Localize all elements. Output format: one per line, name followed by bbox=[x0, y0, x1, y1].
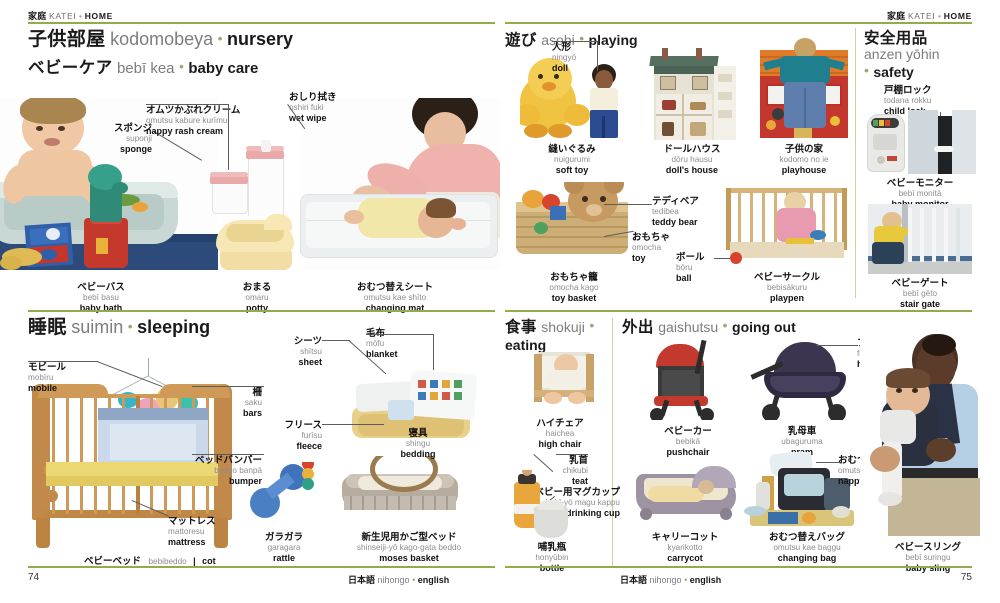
callout-mattress: マットレス mattoresu mattress bbox=[168, 516, 216, 547]
callout-bars-jp: 柵 bbox=[222, 387, 262, 398]
heading-nursery: 子供部屋 kodomobeya • nursery bbox=[28, 29, 293, 51]
leader-teat-top bbox=[556, 454, 588, 455]
callout-mobile: モビール mobīru mobile bbox=[28, 362, 66, 393]
caption-baby-bath: ベビーバス bebī basu baby bath bbox=[56, 282, 146, 313]
callout-sheet-jp: シーツ bbox=[270, 336, 322, 347]
heading-sleeping: 睡眠 suimin • sleeping bbox=[28, 317, 210, 339]
callout-fleece-jp: フリース bbox=[272, 420, 322, 431]
heading-sleeping-rom: suimin bbox=[71, 317, 123, 337]
caption-rattle-jp: ガラガラ bbox=[238, 532, 330, 543]
caption-cot-sep: | bbox=[193, 556, 196, 566]
ball-icon bbox=[730, 252, 742, 264]
caption-changing-mat-jp: おむつ替えシート bbox=[330, 282, 460, 293]
caption-playhouse-en: playhouse bbox=[752, 165, 856, 176]
rule-top-right bbox=[505, 22, 972, 24]
running-head-right-rom: KATEI bbox=[908, 11, 935, 21]
rule-top-left bbox=[28, 22, 495, 24]
caption-pram-rom: ubaguruma bbox=[748, 437, 856, 447]
caption-soft-toy-jp: 縫いぐるみ bbox=[522, 144, 622, 155]
caption-bottle: 哺乳瓶 honyūbin bottle bbox=[506, 542, 598, 573]
caption-stair-gate: ベビーゲート bebī gēto stair gate bbox=[862, 278, 978, 309]
heading-nursery-jp: 子供部屋 bbox=[28, 29, 106, 50]
caption-pushchair: ベビーカー bebikā pushchair bbox=[636, 426, 740, 457]
caption-changing-bag-rom: omutsu kae baggu bbox=[744, 543, 870, 553]
caption-moses-basket: 新生児用かご型ベッド shinseiji-yō kago-gata beddo … bbox=[322, 532, 496, 563]
callout-sheet: シーツ shītsu sheet bbox=[270, 336, 322, 367]
callout-blanket: 毛布 mōfu blanket bbox=[366, 328, 398, 359]
running-head-en: HOME bbox=[85, 11, 113, 21]
caption-playpen-rom: bebisākuru bbox=[724, 283, 850, 293]
callout-wet-wipe-rom: oshiri fuki bbox=[289, 103, 337, 113]
photo-wet-wipe bbox=[246, 140, 286, 216]
photo-playpen bbox=[724, 186, 850, 268]
caption-rattle-en: rattle bbox=[238, 553, 330, 564]
page-right: 家庭 KATEI • HOME 遊び asobi • playing 安全用品 … bbox=[500, 0, 1000, 603]
caption-carrycot: キャリーコット kyarikotto carrycot bbox=[626, 532, 744, 563]
photo-nappy-rash-cream bbox=[210, 170, 250, 214]
caption-bedding-rom: shingu bbox=[370, 439, 466, 449]
subheading-baby-care-jp: ベビーケア bbox=[28, 59, 113, 77]
rule-bottom-left bbox=[28, 566, 495, 568]
caption-changing-bag-en: changing bag bbox=[744, 553, 870, 564]
leader-blanket-top bbox=[366, 334, 434, 335]
rule-sleeping bbox=[28, 310, 495, 312]
caption-playhouse-rom: kodomo no ie bbox=[752, 155, 856, 165]
running-head-dot: • bbox=[79, 11, 82, 21]
caption-stair-gate-en: stair gate bbox=[862, 299, 978, 310]
running-head-right-en: HOME bbox=[944, 11, 972, 21]
leader-hood bbox=[816, 345, 858, 346]
callout-sponge-en: sponge bbox=[84, 144, 152, 155]
folio-right: 75 bbox=[961, 572, 972, 583]
callout-toy-jp: おもちゃ bbox=[632, 232, 670, 243]
photo-playhouse bbox=[758, 36, 850, 140]
footer-left-jp: 日本語 bbox=[348, 575, 375, 585]
callout-blanket-en: blanket bbox=[366, 349, 398, 360]
footer-right-en: english bbox=[690, 575, 722, 585]
caption-cot-rom: bebibeddo bbox=[148, 557, 186, 566]
baby-care-illustration bbox=[0, 98, 500, 270]
heading-eating-rom: shokuji bbox=[541, 319, 585, 335]
callout-mobile-en: mobile bbox=[28, 383, 66, 394]
caption-changing-bag: おむつ替えバッグ omutsu kae baggu changing bag bbox=[744, 532, 870, 563]
caption-bedding: 寝具 shingu bedding bbox=[370, 428, 466, 459]
caption-potty: おまる omaru potty bbox=[212, 282, 302, 313]
photo-cupboard-door bbox=[908, 110, 976, 176]
caption-baby-sling-rom: bebī suringu bbox=[872, 553, 984, 563]
photo-pushchair bbox=[640, 340, 736, 420]
leader-teddy-bear bbox=[604, 204, 652, 205]
caption-baby-sling: ベビースリング bebī suringu baby sling bbox=[872, 542, 984, 573]
heading-nursery-dot: • bbox=[218, 30, 223, 46]
heading-eating-jp: 食事 bbox=[505, 319, 537, 336]
leader-mobile-top bbox=[28, 361, 98, 362]
photo-toy-basket bbox=[516, 182, 634, 262]
caption-playpen-jp: ベビーサークル bbox=[724, 272, 850, 283]
heading-safety-en: safety bbox=[873, 64, 913, 80]
folio-left: 74 bbox=[28, 572, 39, 583]
callout-doll-rom: ningyō bbox=[552, 53, 576, 63]
callout-bumper-rom: beddo banpā bbox=[186, 466, 262, 476]
caption-soft-toy-rom: nuigurumi bbox=[522, 155, 622, 165]
subheading-baby-care-en: baby care bbox=[188, 60, 258, 77]
footer-right-dot: • bbox=[684, 575, 687, 585]
running-head-jp: 家庭 bbox=[28, 11, 46, 21]
photo-baby-sling bbox=[860, 330, 986, 538]
photo-pram bbox=[750, 340, 860, 420]
callout-bumper: ベッドバンパー beddo banpā bumper bbox=[186, 455, 262, 486]
heading-going-out: 外出 gaishutsu • going out bbox=[622, 317, 796, 338]
callout-mattress-en: mattress bbox=[168, 537, 216, 548]
leader-doll-down bbox=[597, 41, 598, 71]
callout-bars: 柵 saku bars bbox=[222, 387, 262, 418]
heading-playing-dot: • bbox=[579, 30, 584, 46]
caption-bedding-en: bedding bbox=[370, 449, 466, 460]
running-head-rom: KATEI bbox=[49, 11, 76, 21]
photo-dolls-house bbox=[646, 48, 738, 140]
callout-ball-rom: bōru bbox=[676, 263, 705, 273]
heading-eating-en: eating bbox=[505, 337, 546, 353]
caption-pushchair-en: pushchair bbox=[636, 447, 740, 458]
leader-cream-top bbox=[146, 104, 229, 105]
caption-stair-gate-jp: ベビーゲート bbox=[862, 278, 978, 289]
callout-sheet-rom: shītsu bbox=[270, 347, 322, 357]
caption-high-chair-jp: ハイチェア bbox=[512, 418, 608, 429]
caption-baby-monitor-rom: bebī monitā bbox=[862, 189, 978, 199]
callout-ball-en: ball bbox=[676, 273, 705, 284]
caption-baby-bath-rom: bebī basu bbox=[56, 293, 146, 303]
footer-right-rom: nihongo bbox=[650, 575, 682, 585]
heading-safety-dot: • bbox=[864, 62, 869, 78]
callout-bumper-jp: ベッドバンパー bbox=[186, 455, 262, 466]
caption-playhouse-jp: 子供の家 bbox=[752, 144, 856, 155]
callout-fleece-rom: furīsu bbox=[272, 431, 322, 441]
caption-dolls-house-en: doll's house bbox=[640, 165, 744, 176]
callout-toy-rom: omocha bbox=[632, 243, 670, 253]
photo-potty bbox=[216, 214, 296, 270]
callout-doll-en: doll bbox=[552, 63, 576, 74]
footer-left-en: english bbox=[418, 575, 450, 585]
caption-bottle-rom: honyūbin bbox=[506, 553, 598, 563]
heading-sleeping-jp: 睡眠 bbox=[28, 317, 67, 338]
callout-toy-en: toy bbox=[632, 253, 670, 264]
callout-doll-jp: 人形 bbox=[552, 42, 576, 53]
photo-carrycot bbox=[632, 462, 742, 526]
caption-playpen: ベビーサークル bebisākuru playpen bbox=[724, 272, 850, 303]
caption-stair-gate-rom: bebī gēto bbox=[862, 289, 978, 299]
callout-toy: おもちゃ omocha toy bbox=[632, 232, 670, 263]
caption-changing-mat-rom: omutsu kae shīto bbox=[330, 293, 460, 303]
callout-wet-wipe-jp: おしり拭き bbox=[289, 92, 337, 103]
caption-moses-basket-rom: shinseiji-yō kago-gata beddo bbox=[322, 543, 496, 553]
callout-child-lock-jp: 戸棚ロック bbox=[884, 85, 932, 96]
caption-carrycot-en: carrycot bbox=[626, 553, 744, 564]
callout-sponge-jp: スポンジ bbox=[84, 123, 152, 134]
leader-cream-down bbox=[228, 104, 229, 170]
caption-rattle-rom: garagara bbox=[238, 543, 330, 553]
footer-left-dot: • bbox=[412, 575, 415, 585]
callout-nappy-rash-cream-jp: オムツかぶれクリーム bbox=[146, 105, 240, 116]
heading-sleeping-en: sleeping bbox=[137, 317, 210, 337]
caption-moses-basket-en: moses basket bbox=[322, 553, 496, 564]
photo-moses-basket bbox=[336, 456, 466, 528]
callout-bars-rom: saku bbox=[222, 398, 262, 408]
callout-blanket-rom: mōfu bbox=[366, 339, 398, 349]
caption-baby-sling-jp: ベビースリング bbox=[872, 542, 984, 553]
callout-teddy-bear-rom: tedibea bbox=[652, 207, 699, 217]
heading-going-out-rom: gaishutsu bbox=[658, 319, 718, 335]
caption-toy-basket-jp: おもちゃ籠 bbox=[516, 272, 632, 283]
caption-rattle: ガラガラ garagara rattle bbox=[238, 532, 330, 563]
photo-stair-gate bbox=[868, 204, 972, 274]
heading-playing-en: playing bbox=[589, 32, 638, 48]
callout-sponge: スポンジ suponji sponge bbox=[84, 123, 152, 154]
caption-bottle-jp: 哺乳瓶 bbox=[506, 542, 598, 553]
photo-changing-mat bbox=[300, 98, 500, 270]
footer-right: 日本語 nihongo • english bbox=[620, 573, 721, 586]
callout-doll: 人形 ningyō doll bbox=[552, 42, 576, 73]
callout-mobile-jp: モビール bbox=[28, 362, 66, 373]
callout-child-lock-rom: todana rokku bbox=[884, 96, 932, 106]
callout-ball-jp: ボール bbox=[676, 252, 705, 263]
rule-bottom-right bbox=[505, 566, 972, 568]
rule-eating bbox=[505, 310, 972, 312]
heading-safety: 安全用品 anzen yōhin • safety bbox=[864, 30, 972, 82]
caption-playpen-en: playpen bbox=[724, 293, 850, 304]
running-head-left: 家庭 KATEI • HOME bbox=[28, 9, 113, 22]
callout-fleece-en: fleece bbox=[272, 441, 322, 452]
photo-high-chair bbox=[528, 352, 600, 414]
subheading-baby-care-dot: • bbox=[179, 58, 184, 74]
leader-sheet-top bbox=[322, 340, 350, 341]
heading-eating: 食事 shokuji • eating bbox=[505, 317, 605, 356]
callout-mattress-jp: マットレス bbox=[168, 516, 216, 527]
caption-soft-toy-en: soft toy bbox=[522, 165, 622, 176]
callout-nappy-rash-cream: オムツかぶれクリーム omutsu kabure kurīmu nappy ra… bbox=[146, 105, 240, 136]
footer-left: 日本語 nihongo • english bbox=[348, 573, 449, 586]
heading-going-out-dot: • bbox=[723, 317, 728, 333]
caption-baby-bath-jp: ベビーバス bbox=[56, 282, 146, 293]
photo-bottle bbox=[508, 470, 578, 542]
caption-pram-jp: 乳母車 bbox=[748, 426, 856, 437]
caption-bedding-jp: 寝具 bbox=[370, 428, 466, 439]
caption-baby-monitor-jp: ベビーモニター bbox=[862, 178, 978, 189]
caption-high-chair-en: high chair bbox=[512, 439, 608, 450]
callout-sheet-en: sheet bbox=[270, 357, 322, 368]
heading-eating-dot: • bbox=[589, 317, 594, 333]
callout-sponge-rom: suponji bbox=[84, 134, 152, 144]
leader-bars bbox=[192, 386, 264, 387]
page-left: 家庭 KATEI • HOME 子供部屋 kodomobeya • nurser… bbox=[0, 0, 500, 603]
caption-pushchair-rom: bebikā bbox=[636, 437, 740, 447]
callout-fleece: フリース furīsu fleece bbox=[272, 420, 322, 451]
caption-moses-basket-jp: 新生児用かご型ベッド bbox=[322, 532, 496, 543]
callout-mobile-rom: mobīru bbox=[28, 373, 66, 383]
running-head-right-dot: • bbox=[938, 11, 941, 21]
heading-nursery-en: nursery bbox=[227, 29, 293, 49]
caption-changing-mat: おむつ替えシート omutsu kae shīto changing mat bbox=[330, 282, 460, 313]
caption-cot-en: cot bbox=[202, 556, 216, 566]
callout-teddy-bear: テディベア tedibea teddy bear bbox=[652, 196, 699, 227]
footer-right-jp: 日本語 bbox=[620, 575, 647, 585]
caption-soft-toy: 縫いぐるみ nuigurumi soft toy bbox=[522, 144, 622, 175]
caption-carrycot-rom: kyarikotto bbox=[626, 543, 744, 553]
callout-teddy-bear-en: teddy bear bbox=[652, 217, 699, 228]
caption-pushchair-jp: ベビーカー bbox=[636, 426, 740, 437]
footer-left-rom: nihongo bbox=[378, 575, 410, 585]
callout-mattress-rom: mattoresu bbox=[168, 527, 216, 537]
caption-dolls-house-rom: dōru hausu bbox=[640, 155, 744, 165]
heading-safety-jp: 安全用品 bbox=[864, 30, 972, 47]
subheading-baby-care-rom: bebī kea bbox=[117, 60, 175, 77]
leader-nappy bbox=[816, 462, 840, 463]
leader-doll-top bbox=[552, 41, 598, 42]
subheading-baby-care: ベビーケア bebī kea • baby care bbox=[28, 58, 258, 79]
callout-bumper-en: bumper bbox=[186, 476, 262, 487]
callout-teddy-bear-jp: テディベア bbox=[652, 196, 699, 207]
caption-high-chair: ハイチェア haichea high chair bbox=[512, 418, 608, 449]
caption-bottle-en: bottle bbox=[506, 563, 598, 574]
caption-toy-basket-rom: omocha kago bbox=[516, 283, 632, 293]
caption-changing-bag-jp: おむつ替えバッグ bbox=[744, 532, 870, 543]
callout-nappy-rash-cream-en: nappy rash cream bbox=[146, 126, 240, 137]
caption-toy-basket: おもちゃ籠 omocha kago toy basket bbox=[516, 272, 632, 303]
photo-baby-monitor bbox=[863, 112, 907, 172]
running-head-right-jp: 家庭 bbox=[887, 11, 905, 21]
caption-high-chair-rom: haichea bbox=[512, 429, 608, 439]
caption-dolls-house: ドールハウス dōru hausu doll's house bbox=[640, 144, 744, 175]
caption-carrycot-jp: キャリーコット bbox=[626, 532, 744, 543]
heading-safety-rom: anzen yōhin bbox=[864, 47, 972, 63]
callout-teat-jp: 乳首 bbox=[520, 455, 588, 466]
heading-going-out-en: going out bbox=[732, 319, 796, 335]
caption-toy-basket-en: toy basket bbox=[516, 293, 632, 304]
heading-sleeping-dot: • bbox=[128, 318, 133, 334]
leader-bumper bbox=[192, 454, 264, 455]
heading-playing-jp: 遊び bbox=[505, 32, 537, 49]
leader-blanket-down bbox=[433, 334, 434, 370]
caption-dolls-house-jp: ドールハウス bbox=[640, 144, 744, 155]
callout-ball: ボール bōru ball bbox=[676, 252, 705, 283]
caption-potty-jp: おまる bbox=[212, 282, 302, 293]
callout-bars-en: bars bbox=[222, 408, 262, 419]
heading-going-out-jp: 外出 bbox=[622, 319, 654, 336]
heading-nursery-rom: kodomobeya bbox=[110, 29, 213, 49]
leader-fleece bbox=[322, 424, 384, 425]
callout-nappy-rash-cream-rom: omutsu kabure kurīmu bbox=[146, 116, 240, 126]
caption-playhouse: 子供の家 kodomo no ie playhouse bbox=[752, 144, 856, 175]
vrule-eating bbox=[612, 318, 613, 566]
running-head-right: 家庭 KATEI • HOME bbox=[887, 9, 972, 22]
caption-potty-rom: omaru bbox=[212, 293, 302, 303]
